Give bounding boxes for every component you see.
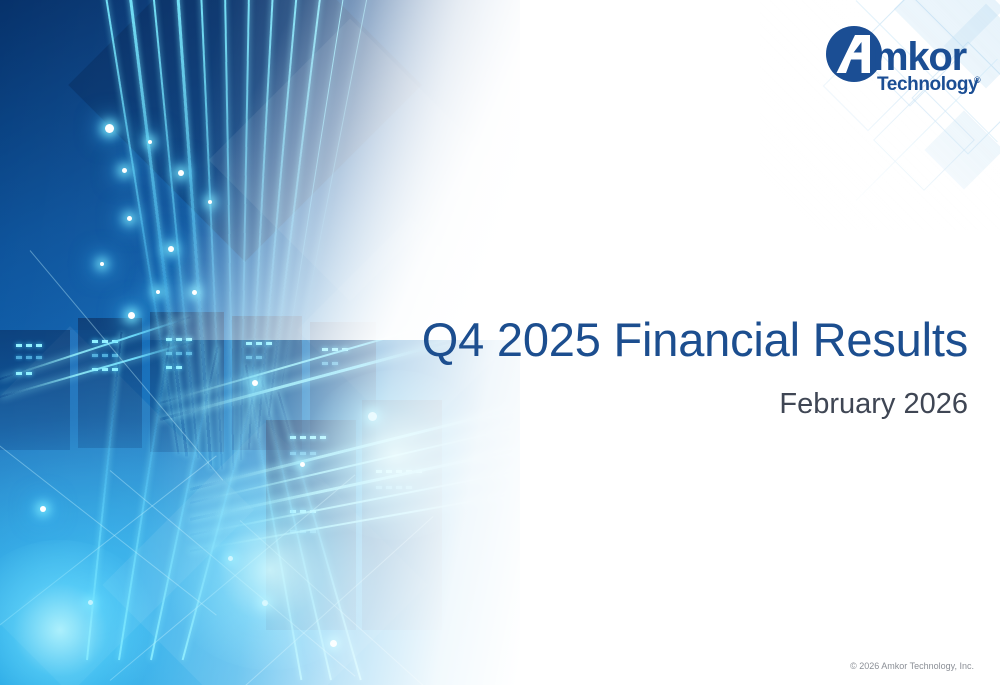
copyright-footer: © 2026 Amkor Technology, Inc. [850,661,974,671]
page-title: Q4 2025 Financial Results [422,312,968,367]
slide-canvas: mkor Technology ® Q4 2025 Financial Resu… [0,0,1000,685]
registered-trademark-icon: ® [974,75,981,85]
logo-tagline: Technology [877,74,979,95]
background-fade-top [0,0,620,340]
amkor-logo[interactable]: mkor Technology ® [824,26,984,96]
logo-wordmark: mkor [873,35,967,79]
page-subtitle: February 2026 [779,388,968,421]
